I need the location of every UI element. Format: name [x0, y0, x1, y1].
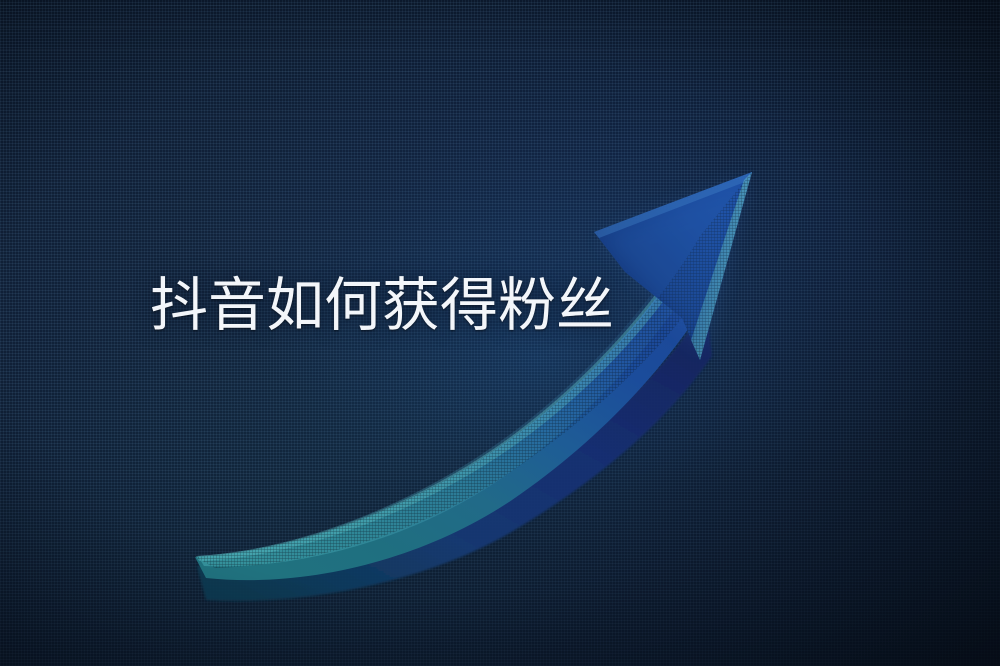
- page-title: 抖音如何获得粉丝: [150, 277, 614, 335]
- banner-canvas: 抖音如何获得粉丝: [0, 0, 1000, 666]
